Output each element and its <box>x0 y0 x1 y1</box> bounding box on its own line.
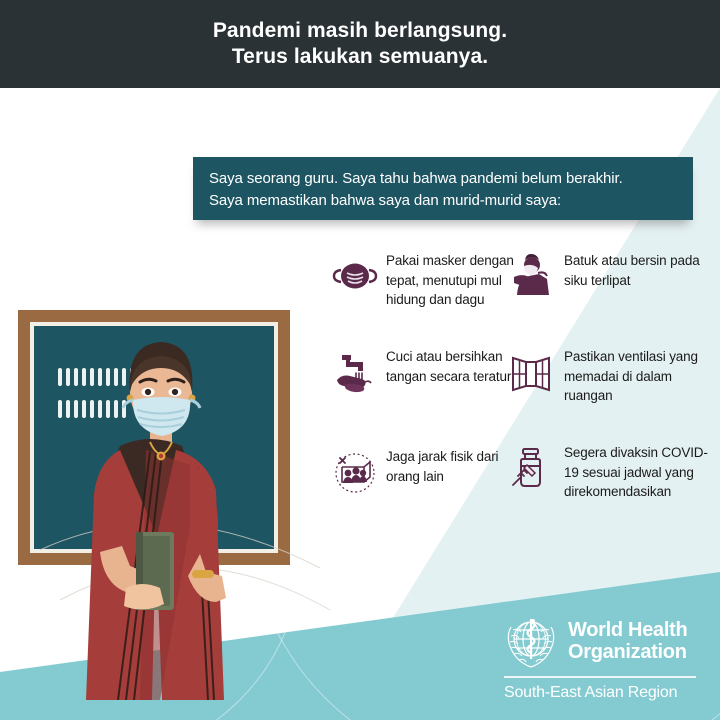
tip-wash-hands: Cuci atau bersihkan tangan secara teratu… <box>332 347 518 395</box>
tip-ventilation: Pastikan ventilasi yang memadai di dalam… <box>508 347 720 406</box>
open-window-icon <box>508 349 554 395</box>
who-word-line1: World Health <box>568 619 687 641</box>
tip-label: Batuk atau bersin pada siku terlipat <box>564 251 720 290</box>
who-logo: World Health Organization South-East Asi… <box>502 612 702 704</box>
who-wordmark: World Health Organization <box>568 619 687 663</box>
tip-label: Segera divaksin COVID-19 sesuai jadwal y… <box>564 443 720 502</box>
who-region-label: South-East Asian Region <box>502 683 702 702</box>
cough-into-elbow-icon <box>508 253 554 299</box>
quote-box: Saya seorang guru. Saya tahu bahwa pande… <box>193 157 693 220</box>
handwashing-tap-icon <box>332 349 378 395</box>
header-title-line1: Pandemi masih berlangsung. <box>213 18 507 44</box>
quote-line-2: Saya memastikan bahwa saya dan murid-mur… <box>209 190 677 212</box>
vaccine-vial-icon <box>508 445 554 491</box>
who-emblem-icon <box>502 612 560 670</box>
header-title-line2: Terus lakukan semuanya. <box>232 44 488 70</box>
tip-label: Cuci atau bersihkan tangan secara teratu… <box>386 347 518 386</box>
tip-label: Pakai masker dengan tepat, menutupi mul … <box>386 251 518 310</box>
header-banner: Pandemi masih berlangsung. Terus lakukan… <box>0 0 720 88</box>
tip-physical-distance: Jaga jarak fisik dari orang lain <box>332 447 518 495</box>
quote-line-1: Saya seorang guru. Saya tahu bahwa pande… <box>209 168 677 190</box>
who-word-line2: Organization <box>568 641 687 663</box>
tip-label: Jaga jarak fisik dari orang lain <box>386 447 518 486</box>
who-divider <box>504 676 696 678</box>
teacher-illustration <box>0 300 340 700</box>
tip-wear-mask: Pakai masker dengan tepat, menutupi mul … <box>332 251 518 310</box>
tips-grid: Pakai masker dengan tepat, menutupi mul … <box>332 247 720 547</box>
face-mask-icon <box>332 253 378 299</box>
tip-cough-into-elbow: Batuk atau bersin pada siku terlipat <box>508 251 720 299</box>
tip-get-vaccinated: Segera divaksin COVID-19 sesuai jadwal y… <box>508 443 720 502</box>
who-logo-top: World Health Organization <box>502 612 702 670</box>
physical-distance-icon <box>332 449 378 495</box>
infographic-poster: Pandemi masih berlangsung. Terus lakukan… <box>0 0 720 720</box>
tip-label: Pastikan ventilasi yang memadai di dalam… <box>564 347 720 406</box>
